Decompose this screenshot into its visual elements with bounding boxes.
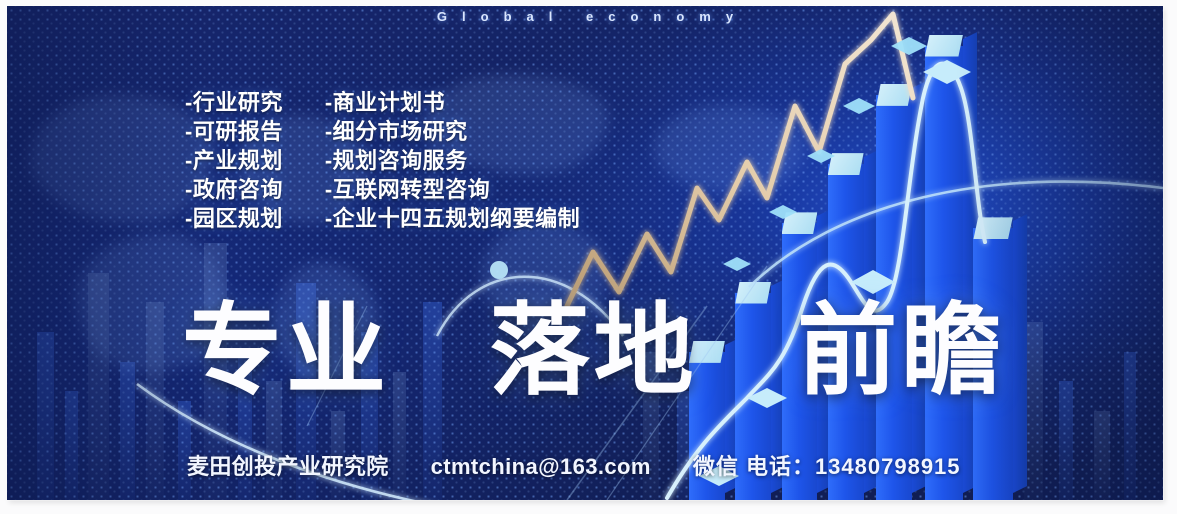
dot-grid-pattern-secondary [7,6,1163,500]
service-item: -产业规划 [185,146,283,175]
organization-name: 麦田创投产业研究院 [187,449,389,481]
service-item: -规划咨询服务 [325,146,580,175]
page-title: 专业 落地 前瞻 [182,299,1005,403]
email-address[interactable]: ctmtchina@163.com [431,454,651,480]
service-item: -可研报告 [185,117,283,146]
headline-word-1: 专业 [182,295,390,407]
screenshot-canvas: Global economy -行业研究 -可研报告 -产业规划 -政府咨询 -… [0,0,1177,514]
service-item: -行业研究 [185,88,283,117]
headline-word-2: 落地 [490,295,698,407]
service-item: -企业十四五规划纲要编制 [325,204,580,233]
service-item: -园区规划 [185,204,283,233]
header-wordmark: Global economy [7,9,1163,35]
service-lists: -行业研究 -可研报告 -产业规划 -政府咨询 -园区规划 -商业计划书 -细分… [185,88,580,233]
phone-wechat: 微信 电话：13480798915 [693,449,961,481]
contact-row: 麦田创投产业研究院 ctmtchina@163.com 微信 电话：134807… [187,449,961,481]
service-list-right: -商业计划书 -细分市场研究 -规划咨询服务 -互联网转型咨询 -企业十四五规划… [325,88,580,233]
service-list-left: -行业研究 -可研报告 -产业规划 -政府咨询 -园区规划 [185,88,283,233]
service-item: -细分市场研究 [325,117,580,146]
service-item: -商业计划书 [325,88,580,117]
service-item: -政府咨询 [185,175,283,204]
service-item: -互联网转型咨询 [325,175,580,204]
promotional-banner: Global economy -行业研究 -可研报告 -产业规划 -政府咨询 -… [7,6,1163,500]
headline-word-3: 前瞻 [797,295,1005,407]
